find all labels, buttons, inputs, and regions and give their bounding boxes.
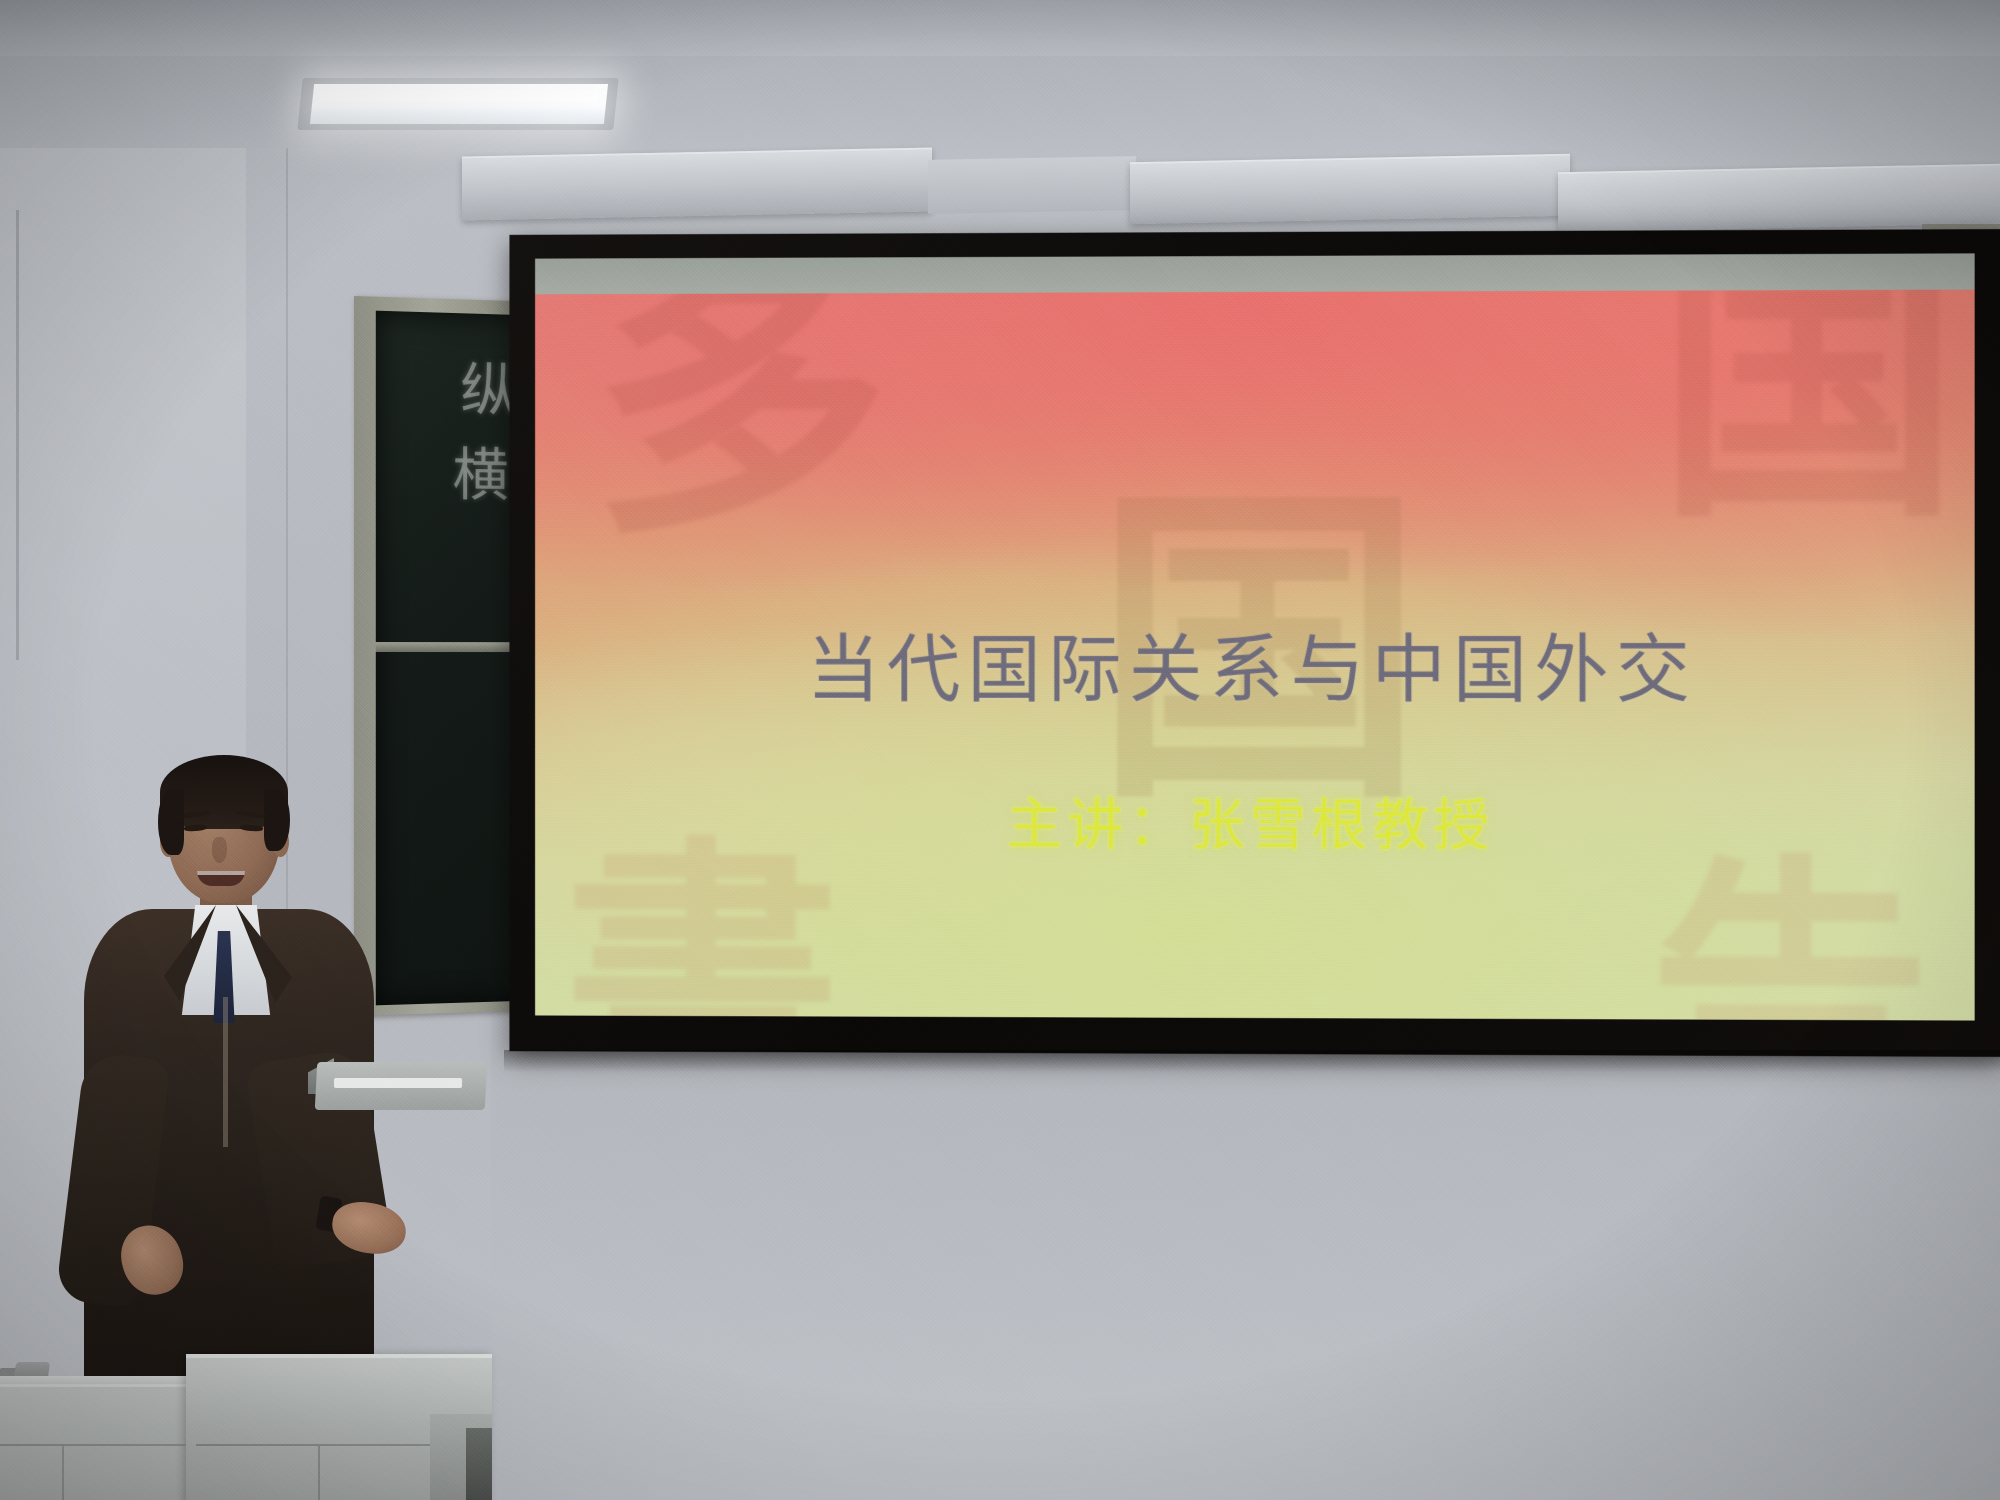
ceiling-light-tube (319, 90, 598, 102)
chalk-text-line-2: 横 (452, 446, 508, 504)
presenter-hair-side-left (158, 789, 184, 855)
ceiling (0, 0, 2000, 62)
classroom-photo-scene: 纵 横 系 告 多 国 国 書 告 当代国际关系与中国外交 主讲：张雪根教授 (0, 0, 2000, 1500)
podium-back (0, 1384, 196, 1500)
chalk-text-line-1: 纵 (460, 361, 516, 420)
projection-screen: 多 国 国 書 告 当代国际关系与中国外交 主讲：张雪根教授 (509, 229, 2000, 1057)
presenter-nose (212, 837, 227, 863)
podium-back-seam (0, 1444, 186, 1446)
wall-light-bracket (928, 156, 1136, 214)
podium-back-seam-vertical (62, 1446, 64, 1500)
wall-seam (16, 210, 19, 660)
lectern-side-shadow (466, 1428, 492, 1500)
seal-watermark-top-right-icon: 国 (1657, 290, 1960, 518)
projection-screen-surface: 多 国 国 書 告 当代国际关系与中国外交 主讲：张雪根教授 (535, 253, 1975, 1020)
screen-drop-shadow (504, 1050, 2000, 1072)
slide-subtitle: 主讲：张雪根教授 (535, 779, 1975, 862)
seal-watermark-bottom-right-icon: 告 (1648, 868, 1931, 1020)
seal-watermark-bottom-left-icon: 書 (563, 852, 840, 1021)
wall-light-fixture-left (462, 147, 932, 220)
document-camera-slot (334, 1078, 462, 1088)
seal-watermark-top-left-icon: 多 (592, 290, 889, 534)
slide-title: 当代国际关系与中国外交 (535, 610, 1975, 718)
wall-light-fixture-right (1558, 164, 2000, 232)
presentation-slide: 多 国 国 書 告 当代国际关系与中国外交 主讲：张雪根教授 (535, 290, 1975, 1021)
presenter-hair-side-right (264, 789, 290, 851)
presenter-jacket-zipper (223, 997, 228, 1147)
lectern-panel-seam-vertical (318, 1446, 320, 1500)
wall-light-fixture-center (1130, 154, 1570, 224)
presenter-mouth (197, 871, 245, 886)
